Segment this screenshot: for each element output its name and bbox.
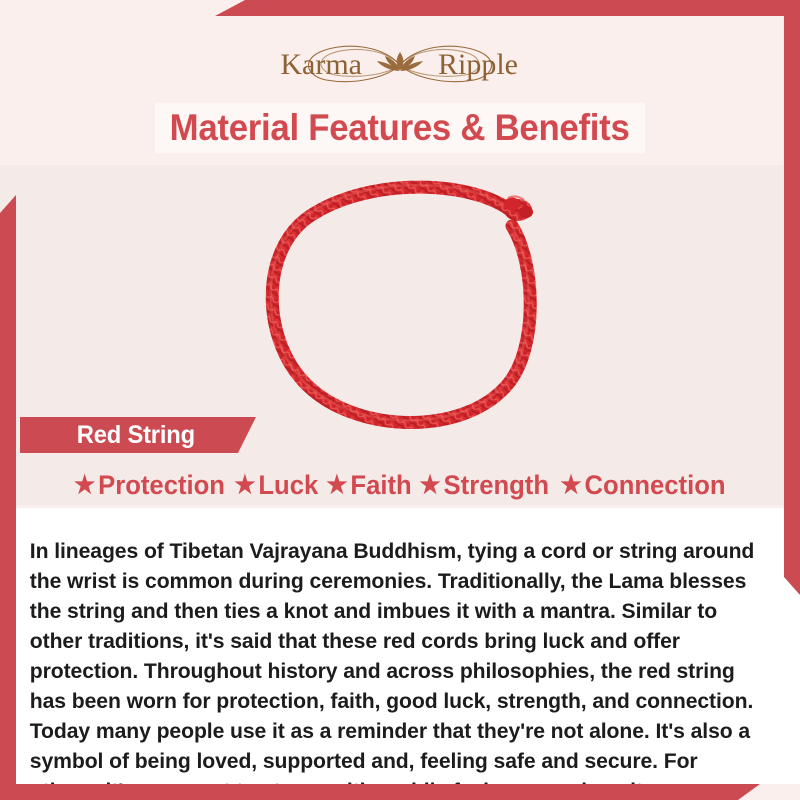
star-icon: ★	[326, 473, 347, 498]
feature-label: Connection	[584, 470, 725, 501]
feature-item-connection: ★ Connection	[560, 470, 725, 501]
feature-item-protection: ★ Protection	[74, 470, 225, 501]
brand-lockup: Karma Ripple	[250, 34, 550, 96]
feature-label: Strength	[444, 470, 549, 501]
lotus-flourish-icon: Karma Ripple	[250, 34, 550, 96]
feature-list: ★ Protection ★ Luck ★ Faith ★ Strength ★…	[16, 463, 784, 507]
brand-name-left: Karma	[280, 48, 362, 81]
page-title: Material Features & Benefits	[170, 107, 630, 149]
description-paragraph: In lineages of Tibetan Vajrayana Buddhis…	[16, 530, 788, 800]
frame-accent-right	[784, 0, 800, 595]
feature-label: Protection	[98, 470, 225, 501]
bracelet-knot	[504, 196, 533, 221]
feature-label: Faith	[350, 470, 411, 501]
material-name: Red String	[24, 421, 194, 450]
brand-name-right: Ripple	[438, 48, 518, 81]
feature-item-luck: ★ Luck	[234, 470, 318, 501]
frame-accent-left	[0, 195, 16, 800]
feature-label: Luck	[258, 470, 318, 501]
page-title-band: Material Features & Benefits	[155, 103, 645, 153]
brand-logo: Karma Ripple	[0, 34, 800, 101]
frame-accent-bottom	[0, 784, 760, 800]
star-icon: ★	[234, 473, 255, 498]
star-icon: ★	[560, 473, 581, 498]
infographic-poster: Karma Ripple Material Features & Benefit…	[0, 0, 800, 800]
material-ribbon-label: Red String	[20, 417, 256, 453]
product-image	[250, 168, 570, 448]
frame-accent-top	[215, 0, 800, 16]
description-card: In lineages of Tibetan Vajrayana Buddhis…	[16, 508, 800, 784]
star-icon: ★	[74, 473, 95, 498]
feature-item-faith: ★ Faith	[326, 470, 411, 501]
star-icon: ★	[420, 473, 441, 498]
feature-item-strength: ★ Strength	[420, 470, 550, 501]
